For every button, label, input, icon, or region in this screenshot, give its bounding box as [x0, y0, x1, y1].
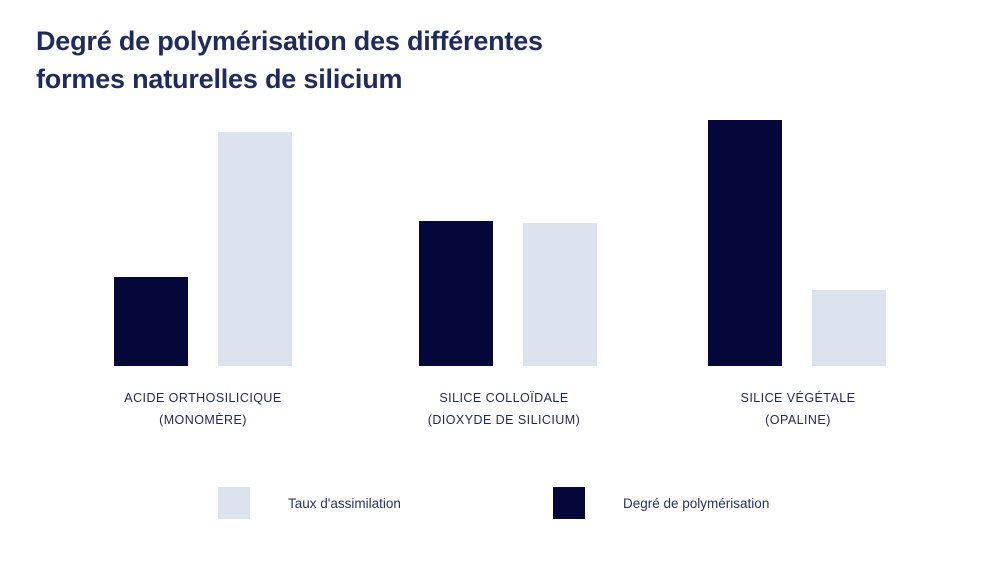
bar-polymerisation-silice-colloidale	[419, 221, 493, 366]
bar-polymerisation-silice-vegetale	[708, 120, 782, 366]
legend-swatch-assimilation	[218, 487, 250, 519]
category-label-silice-vegetale: SILICE VÉGÉTALE (OPALINE)	[648, 388, 948, 432]
chart-title: Degré de polymérisation des différentes …	[36, 22, 736, 99]
chart-plot-area	[0, 120, 1000, 366]
chart-card: Degré de polymérisation des différentes …	[0, 0, 1000, 563]
category-label-silice-colloidale: SILICE COLLOÏDALE (DIOXYDE DE SILICIUM)	[354, 388, 654, 432]
bar-group-acide-orthosilicique	[114, 120, 292, 366]
bar-assimilation-acide-orthosilicique	[218, 132, 292, 366]
legend-label-assimilation: Taux d'assimilation	[288, 496, 401, 511]
bar-group-silice-vegetale	[708, 120, 886, 366]
legend-swatch-polymerisation	[553, 487, 585, 519]
bar-assimilation-silice-colloidale	[523, 223, 597, 366]
legend-item-polymerisation: Degré de polymérisation	[553, 487, 769, 519]
bar-polymerisation-acide-orthosilicique	[114, 277, 188, 366]
chart-legend: Taux d'assimilation Degré de polymérisat…	[0, 487, 1000, 527]
bar-group-silice-colloidale	[419, 120, 597, 366]
bar-assimilation-silice-vegetale	[812, 290, 886, 366]
legend-item-assimilation: Taux d'assimilation	[218, 487, 401, 519]
category-label-acide-orthosilicique: ACIDE ORTHOSILICIQUE (MONOMÈRE)	[53, 388, 353, 432]
legend-label-polymerisation: Degré de polymérisation	[623, 496, 769, 511]
